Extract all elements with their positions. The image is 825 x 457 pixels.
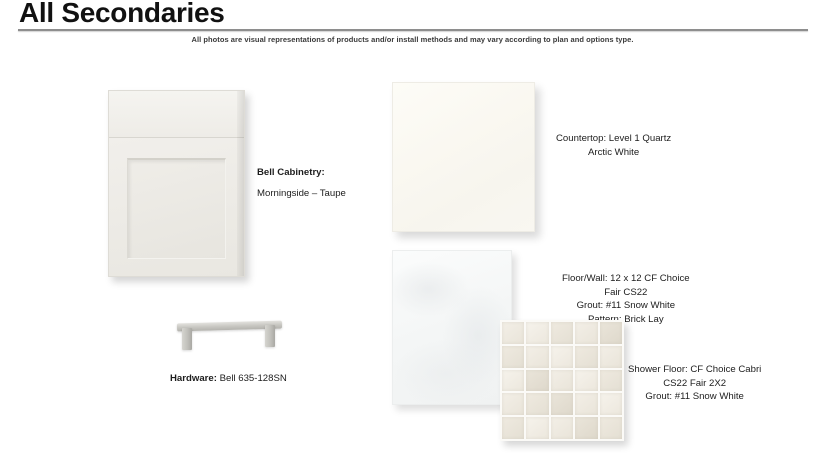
disclaimer-text: All photos are visual representations of…: [0, 35, 825, 44]
pull-post-left: [182, 328, 192, 350]
cabinetry-label: Bell Cabinetry:: [257, 167, 325, 178]
mosaic-tile: [526, 322, 548, 344]
mosaic-tile: [502, 322, 524, 344]
hardware-value: Bell 635-128SN: [220, 373, 287, 384]
shower-floor-line-2: CS22 Fair 2X2: [628, 377, 761, 391]
countertop-caption: Countertop: Level 1 Quartz Arctic White: [556, 132, 671, 159]
mosaic-tile: [526, 417, 548, 439]
mosaic-tile: [575, 393, 597, 415]
shower-floor-line-3: Grout: #11 Snow White: [628, 390, 761, 404]
mosaic-tile: [575, 322, 597, 344]
pull-post-right: [265, 325, 275, 347]
floor-wall-line-2: Fair CS22: [562, 286, 690, 300]
mosaic-tile: [600, 322, 622, 344]
cabinet-edge-shading: [237, 91, 244, 276]
mosaic-tile: [502, 370, 524, 392]
cabinetry-value: Morningside – Taupe: [257, 187, 346, 201]
countertop-line-2: Arctic White: [556, 146, 671, 160]
mosaic-tile: [551, 370, 573, 392]
cabinet-door-lower-panel: [109, 138, 244, 276]
mosaic-tile: [600, 417, 622, 439]
countertop-line-1: Countertop: Level 1 Quartz: [556, 132, 671, 146]
floor-wall-tile-swatch: [392, 250, 512, 405]
mosaic-tile: [551, 393, 573, 415]
mosaic-tile: [502, 417, 524, 439]
cabinet-recessed-panel: [127, 158, 226, 259]
cabinet-drawer-front: [109, 91, 244, 138]
mosaic-tile: [575, 370, 597, 392]
mosaic-tile: [600, 393, 622, 415]
mosaic-tile: [551, 346, 573, 368]
hardware-pull-swatch: [177, 320, 282, 352]
mosaic-tile: [526, 346, 548, 368]
shower-floor-line-1: Shower Floor: CF Choice Cabri: [628, 363, 761, 377]
mosaic-tile: [502, 346, 524, 368]
shower-floor-caption: Shower Floor: CF Choice Cabri CS22 Fair …: [628, 363, 761, 404]
mosaic-tile: [575, 346, 597, 368]
page-title: All Secondaries: [19, 0, 225, 29]
mosaic-tile: [600, 370, 622, 392]
countertop-swatch: [392, 82, 535, 232]
mosaic-tile: [551, 417, 573, 439]
hardware-label: Hardware:: [170, 373, 217, 384]
mosaic-tile: [526, 370, 548, 392]
floor-wall-line-3: Grout: #11 Snow White: [562, 299, 690, 313]
shower-floor-mosaic-swatch: [500, 320, 624, 441]
mosaic-tile: [600, 346, 622, 368]
floor-wall-line-1: Floor/Wall: 12 x 12 CF Choice: [562, 272, 690, 286]
cabinet-door-swatch: [108, 90, 245, 277]
mosaic-tile: [502, 393, 524, 415]
mosaic-tile: [526, 393, 548, 415]
floor-wall-caption: Floor/Wall: 12 x 12 CF Choice Fair CS22 …: [562, 272, 690, 326]
cabinetry-caption: Bell Cabinetry: Morningside – Taupe: [257, 166, 346, 200]
selection-sheet-page: All Secondaries All photos are visual re…: [0, 0, 825, 457]
mosaic-tile: [575, 417, 597, 439]
header-divider: [18, 29, 808, 31]
mosaic-tile: [551, 322, 573, 344]
hardware-caption: Hardware: Bell 635-128SN: [170, 372, 287, 386]
